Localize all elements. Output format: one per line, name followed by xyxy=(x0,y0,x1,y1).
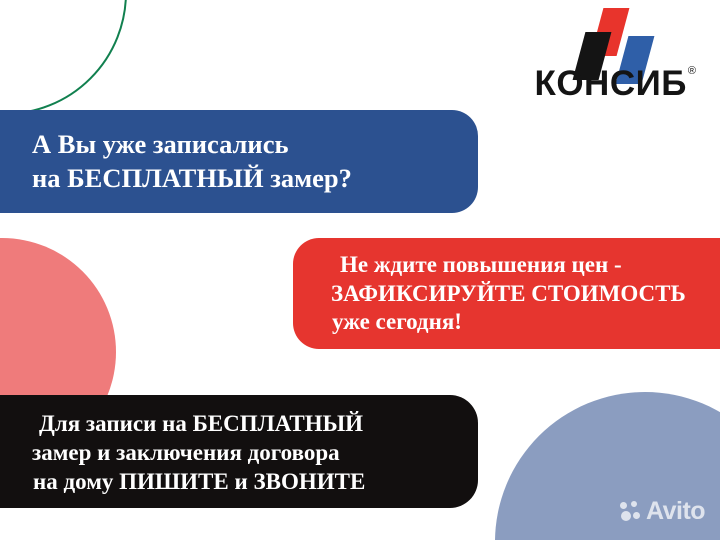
cta-banner-black-line-2: замер и заключения договора xyxy=(32,438,478,467)
headline-banner-blue-line-1: А Вы уже записались xyxy=(32,127,478,161)
registered-trademark-icon: ® xyxy=(688,65,697,77)
logo-mark-group xyxy=(527,6,703,68)
urgency-banner-red-line-1: Не ждите повышения цен - xyxy=(331,251,720,280)
avito-watermark: Avito xyxy=(620,499,705,524)
avito-dots-icon xyxy=(620,501,644,522)
cta-banner-black-line-3: на дому ПИШИТЕ и ЗВОНИТЕ xyxy=(32,467,478,496)
avito-watermark-text: Avito xyxy=(646,499,705,524)
company-logo: КОНСИБ® xyxy=(527,6,703,106)
urgency-banner-red: Не ждите повышения цен - ЗАФИКСИРУЙТЕ СТ… xyxy=(293,238,720,349)
headline-banner-blue-line-2: на БЕСПЛАТНЫЙ замер? xyxy=(32,161,478,195)
cta-banner-black: Для записи на БЕСПЛАТНЫЙ замер и заключе… xyxy=(0,395,478,508)
promo-banner-canvas: КОНСИБ® А Вы уже записались на БЕСПЛАТНЫ… xyxy=(0,0,720,540)
urgency-banner-red-line-3: уже сегодня! xyxy=(331,308,720,337)
decorative-circle-green-outline xyxy=(0,0,127,115)
urgency-banner-red-line-2: ЗАФИКСИРУЙТЕ СТОИМОСТЬ xyxy=(331,280,720,309)
cta-banner-black-line-1: Для записи на БЕСПЛАТНЫЙ xyxy=(32,409,478,438)
logo-wordmark: КОНСИБ® xyxy=(527,66,703,101)
headline-banner-blue: А Вы уже записались на БЕСПЛАТНЫЙ замер? xyxy=(0,110,478,213)
logo-wordmark-text: КОНСИБ xyxy=(534,64,686,103)
